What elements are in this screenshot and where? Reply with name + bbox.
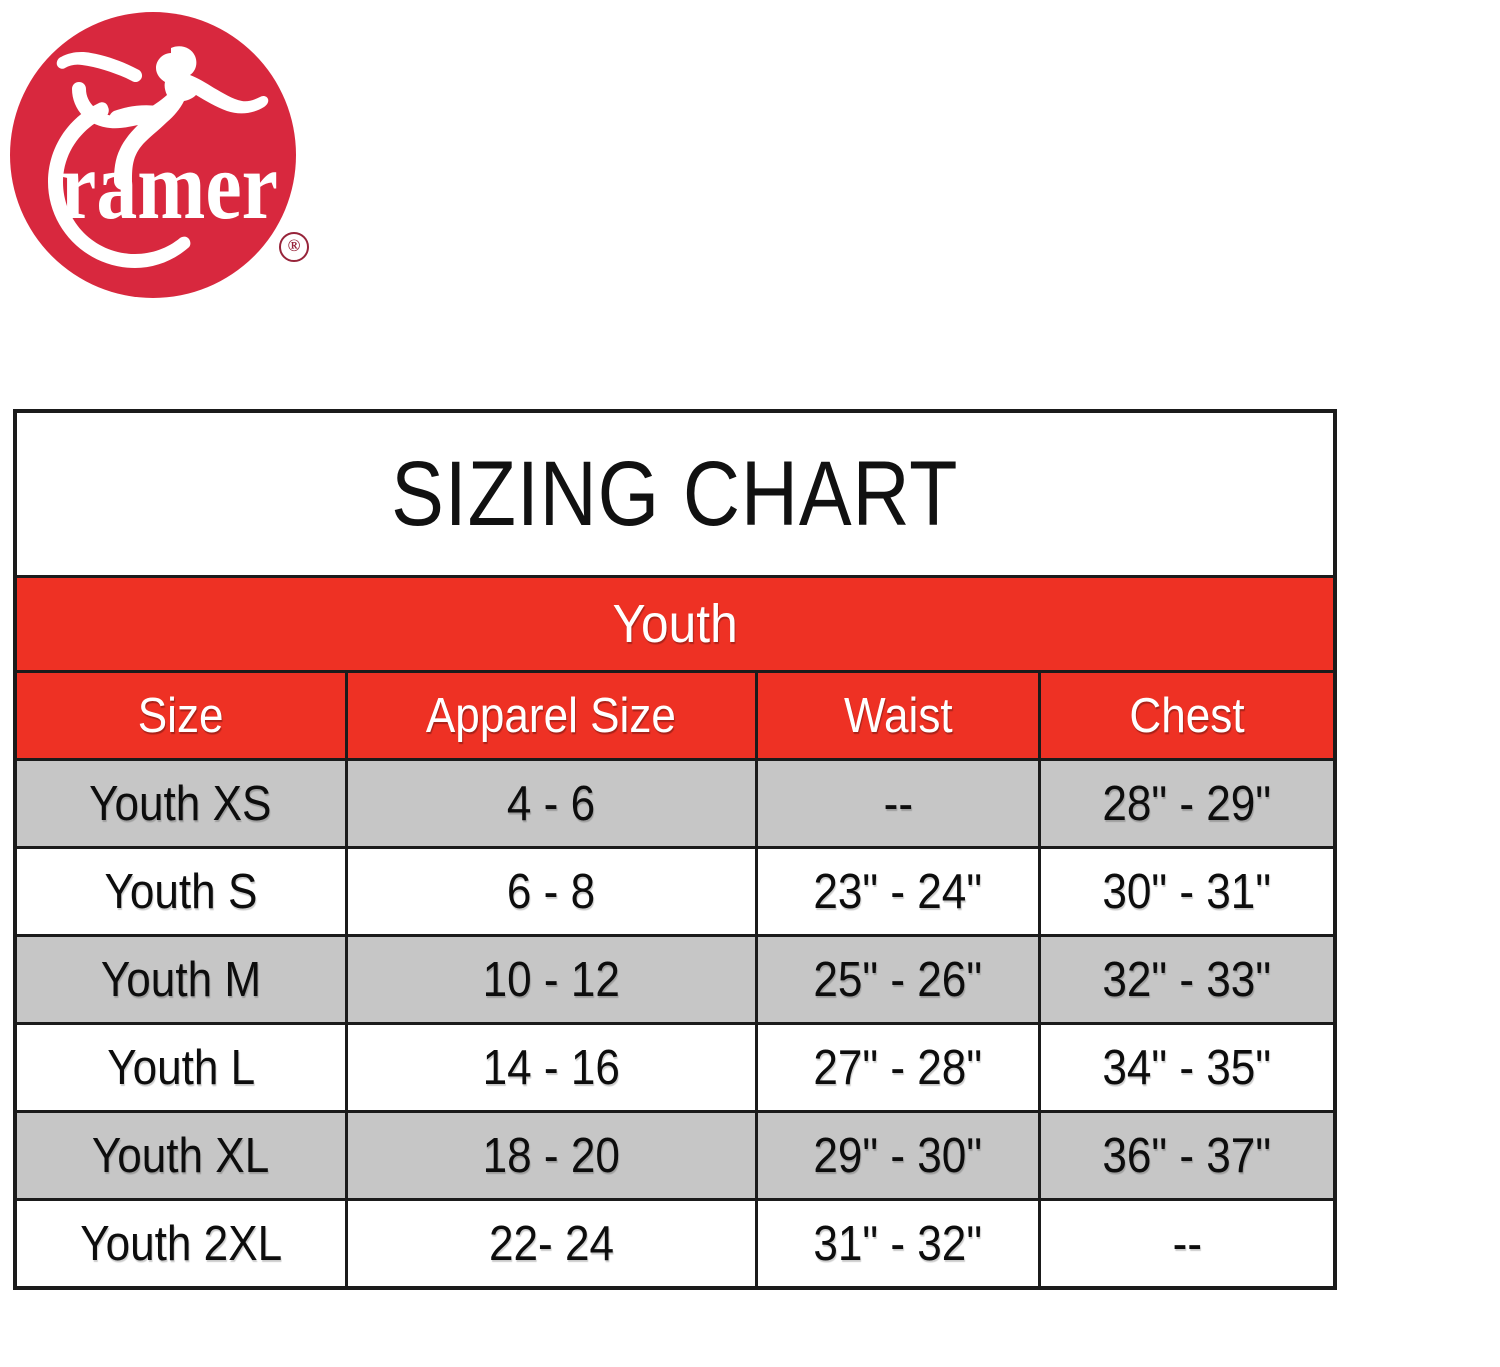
cell-chest: 36" - 37": [1040, 1112, 1333, 1200]
cell-chest: 34" - 35": [1040, 1024, 1333, 1112]
cell-size: Youth XS: [17, 760, 346, 848]
cell-waist: 25" - 26": [757, 936, 1040, 1024]
cell-chest: 28" - 29": [1040, 760, 1333, 848]
cell-waist: 31" - 32": [757, 1200, 1040, 1287]
column-header-apparel-size: Apparel Size: [346, 673, 757, 760]
cell-waist: 29" - 30": [757, 1112, 1040, 1200]
sizing-chart: SIZING CHART Youth Size Apparel Size Wai…: [13, 409, 1337, 1290]
table-row: Youth 2XL 22- 24 31" - 32" --: [17, 1200, 1333, 1287]
column-header-waist: Waist: [757, 673, 1040, 760]
cramer-logo: ramer ®: [8, 10, 308, 300]
cell-size: Youth S: [17, 848, 346, 936]
cell-size: Youth L: [17, 1024, 346, 1112]
cell-size: Youth M: [17, 936, 346, 1024]
table-row: Youth XL 18 - 20 29" - 30" 36" - 37": [17, 1112, 1333, 1200]
registered-trademark-icon: ®: [279, 232, 309, 262]
cramer-leaping-athlete-logo: ramer: [8, 10, 308, 300]
cell-waist: 23" - 24": [757, 848, 1040, 936]
cell-chest: --: [1040, 1200, 1333, 1287]
cell-waist: 27" - 28": [757, 1024, 1040, 1112]
cell-apparel-size: 10 - 12: [346, 936, 757, 1024]
logo-wordmark: ramer: [60, 132, 278, 239]
sizing-table: Size Apparel Size Waist Chest Youth XS 4…: [17, 673, 1333, 1286]
cell-apparel-size: 4 - 6: [346, 760, 757, 848]
table-row: Youth S 6 - 8 23" - 24" 30" - 31": [17, 848, 1333, 936]
group-header-youth: Youth: [17, 578, 1333, 673]
table-header-row: Size Apparel Size Waist Chest: [17, 673, 1333, 760]
cell-chest: 30" - 31": [1040, 848, 1333, 936]
table-row: Youth M 10 - 12 25" - 26" 32" - 33": [17, 936, 1333, 1024]
group-label: Youth: [612, 593, 737, 655]
cell-apparel-size: 14 - 16: [346, 1024, 757, 1112]
cell-apparel-size: 22- 24: [346, 1200, 757, 1287]
cell-size: Youth XL: [17, 1112, 346, 1200]
cell-apparel-size: 18 - 20: [346, 1112, 757, 1200]
chart-title-row: SIZING CHART: [17, 413, 1333, 578]
cell-apparel-size: 6 - 8: [346, 848, 757, 936]
column-header-size: Size: [17, 673, 346, 760]
cell-chest: 32" - 33": [1040, 936, 1333, 1024]
cell-waist: --: [757, 760, 1040, 848]
page-title: SIZING CHART: [391, 448, 958, 540]
cell-size: Youth 2XL: [17, 1200, 346, 1287]
table-row: Youth L 14 - 16 27" - 28" 34" - 35": [17, 1024, 1333, 1112]
column-header-chest: Chest: [1040, 673, 1333, 760]
table-row: Youth XS 4 - 6 -- 28" - 29": [17, 760, 1333, 848]
